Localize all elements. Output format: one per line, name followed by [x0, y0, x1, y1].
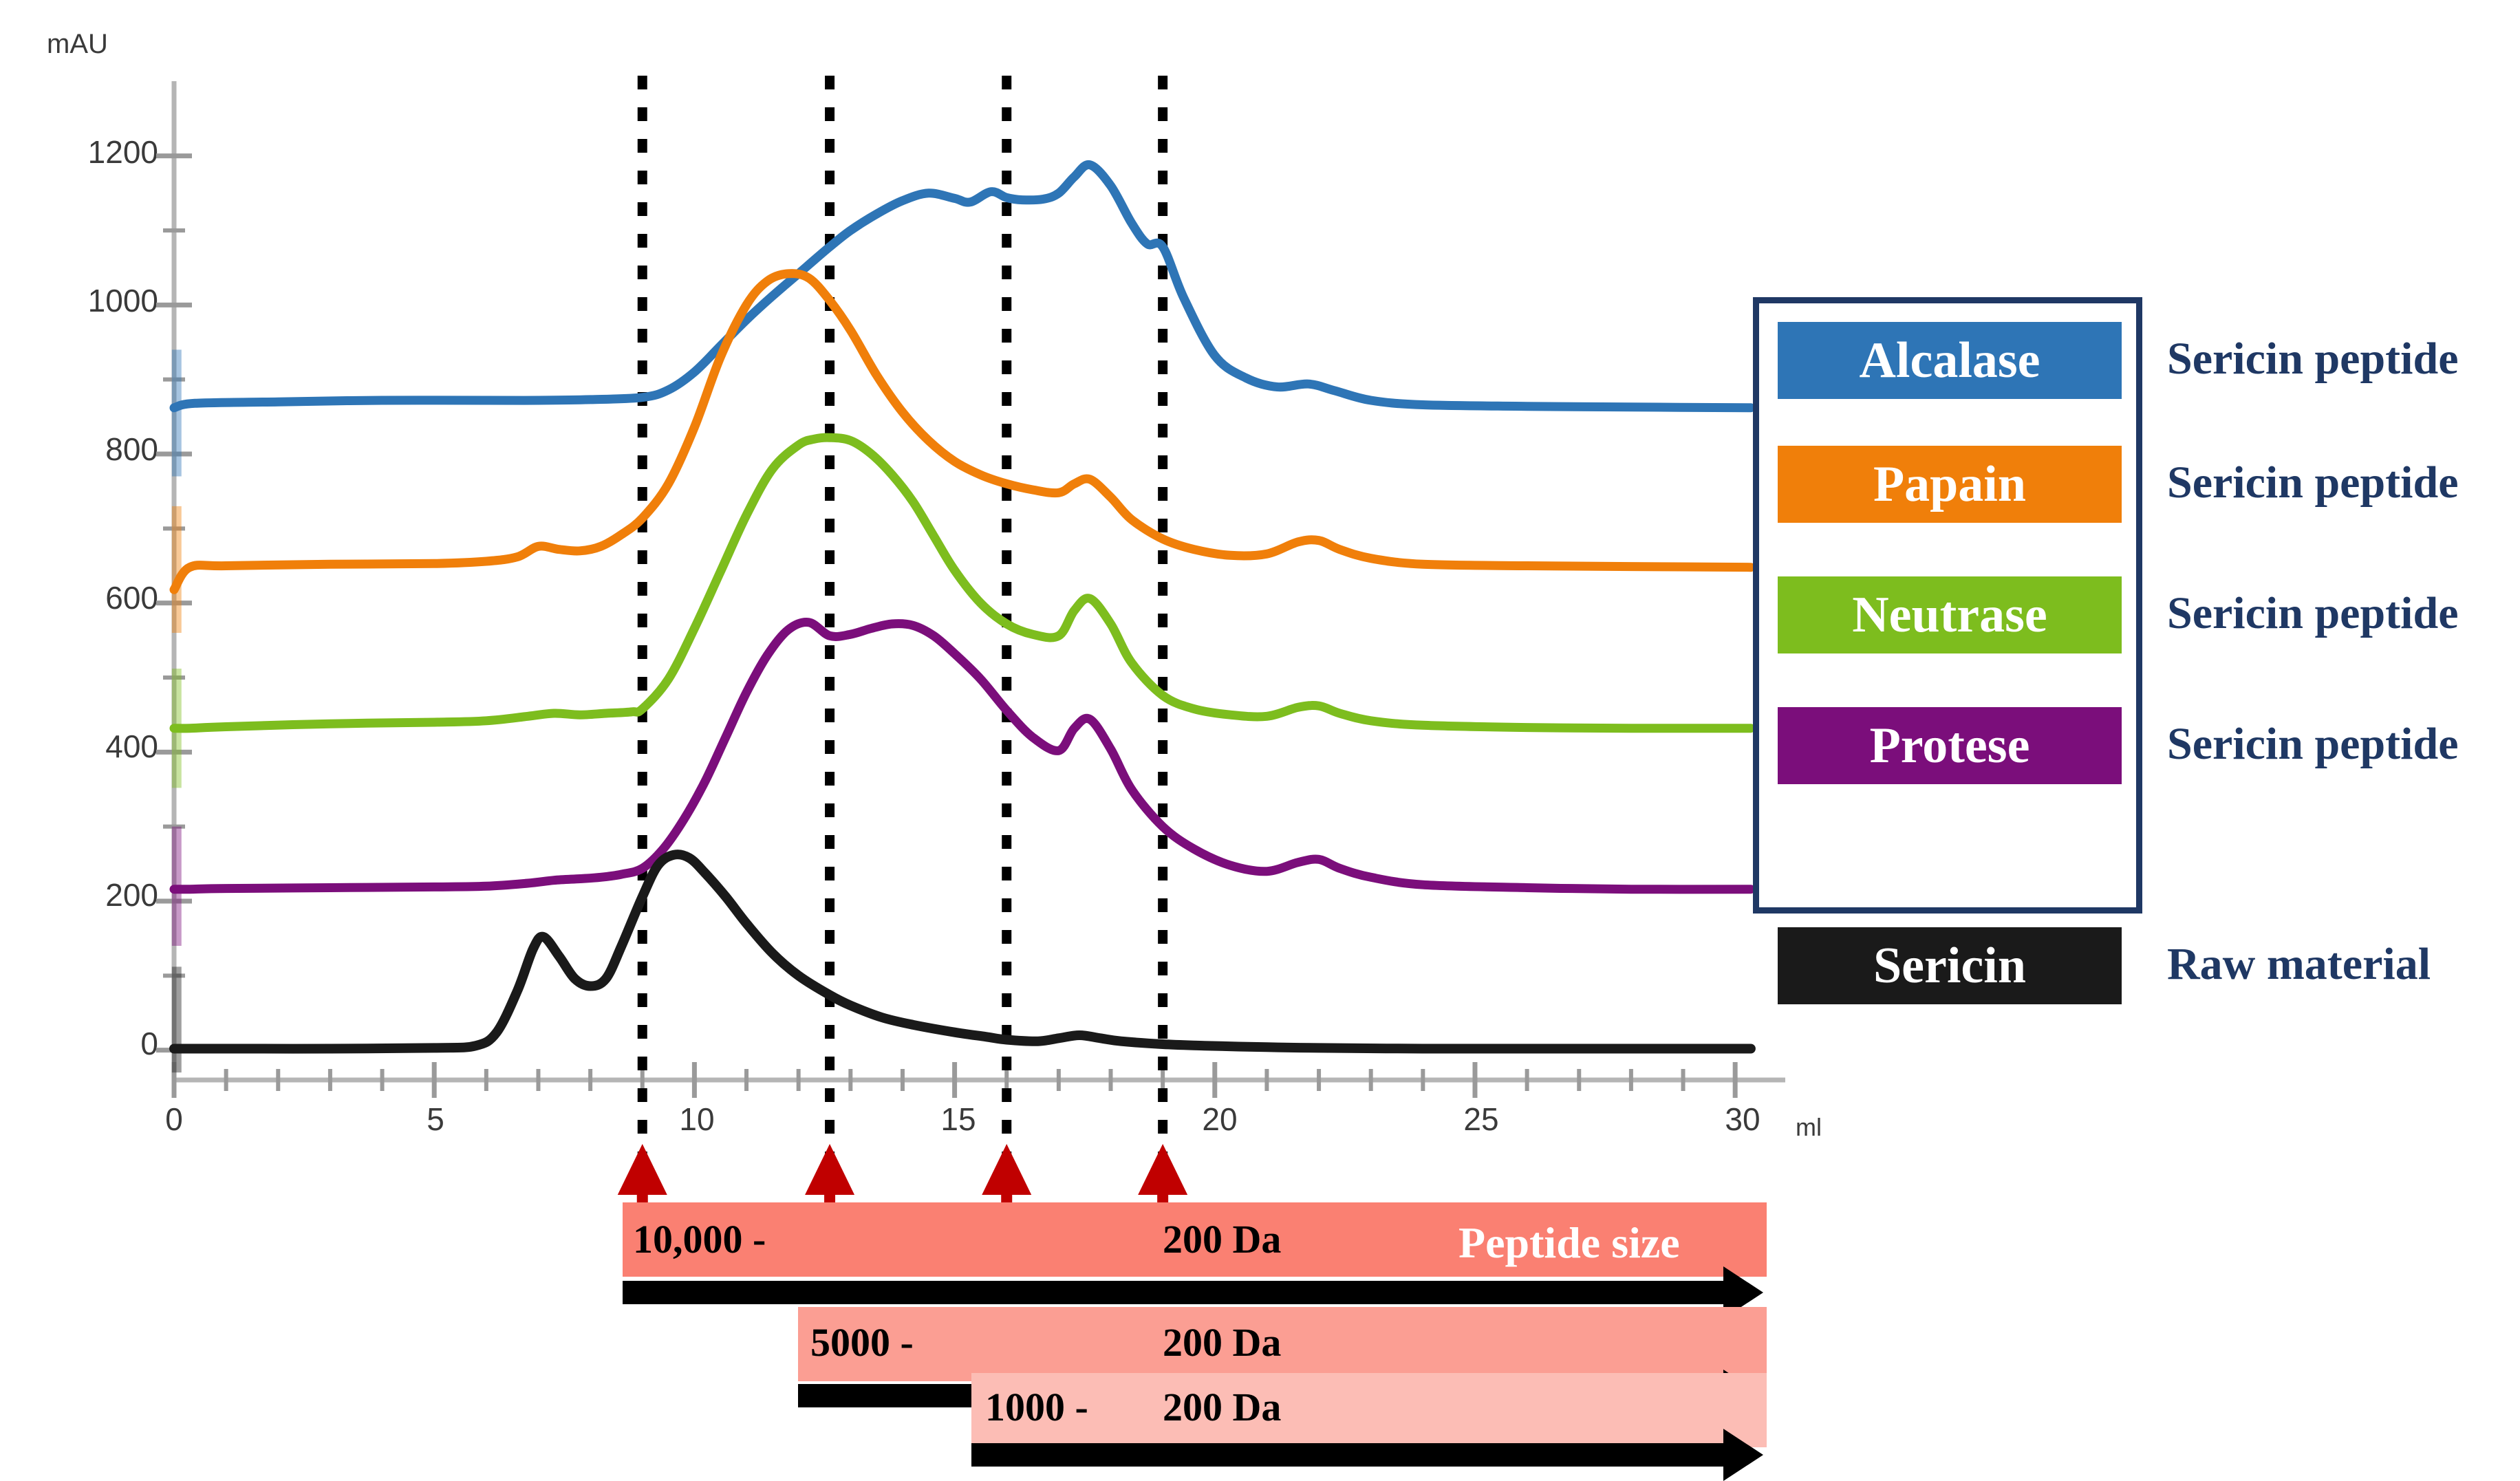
peptide-band-5000 [798, 1307, 1767, 1381]
legend-label-neutrase: Neutrase [1852, 586, 2047, 645]
band-1-to: 200 Da [1163, 1319, 1281, 1365]
band-2-arrow [971, 1443, 1723, 1467]
band-0-to: 200 Da [1163, 1216, 1281, 1262]
band-1-from: 5000 - [810, 1319, 914, 1365]
axis-lines [174, 81, 1785, 1080]
curve-alcalase [174, 164, 1751, 476]
band-0-from: 10,000 - [633, 1216, 766, 1262]
chromatogram-curves [174, 164, 1751, 1072]
side-label-alcalase: Sericin peptide [2167, 333, 2459, 385]
legend-label-protese: Protese [1870, 717, 2030, 775]
band-2-arrowhead [1723, 1429, 1763, 1481]
peptide-band-1000 [971, 1373, 1767, 1447]
chromatogram-figure: mAU ml 0 200 400 600 800 1000 1200 0 5 1… [0, 0, 2520, 1475]
band-2-from: 1000 - [985, 1384, 1088, 1430]
legend-swatch-papain[interactable]: Papain [1778, 446, 2122, 523]
curve-neutrase [174, 437, 1751, 788]
legend-label-papain: Papain [1873, 455, 2026, 514]
legend-swatch-sericin[interactable]: Sericin [1778, 927, 2122, 1004]
legend-swatch-protese[interactable]: Protese [1778, 707, 2122, 784]
legend-label-sericin: Sericin [1873, 937, 2026, 995]
legend-label-alcalase: Alcalase [1859, 332, 2040, 390]
side-label-neutrase: Sericin peptide [2167, 587, 2459, 640]
side-label-protese: Sericin peptide [2167, 718, 2459, 770]
peptide-size-title: Peptide size [1458, 1218, 1680, 1268]
curve-protese [174, 623, 1751, 946]
band-0-arrow [623, 1281, 1723, 1304]
legend-swatch-neutrase[interactable]: Neutrase [1778, 576, 2122, 653]
side-label-papain: Sericin peptide [2167, 457, 2459, 509]
band-2-to: 200 Da [1163, 1384, 1281, 1430]
side-label-raw-material: Raw material [2167, 938, 2431, 991]
legend-swatch-alcalase[interactable]: Alcalase [1778, 322, 2122, 399]
